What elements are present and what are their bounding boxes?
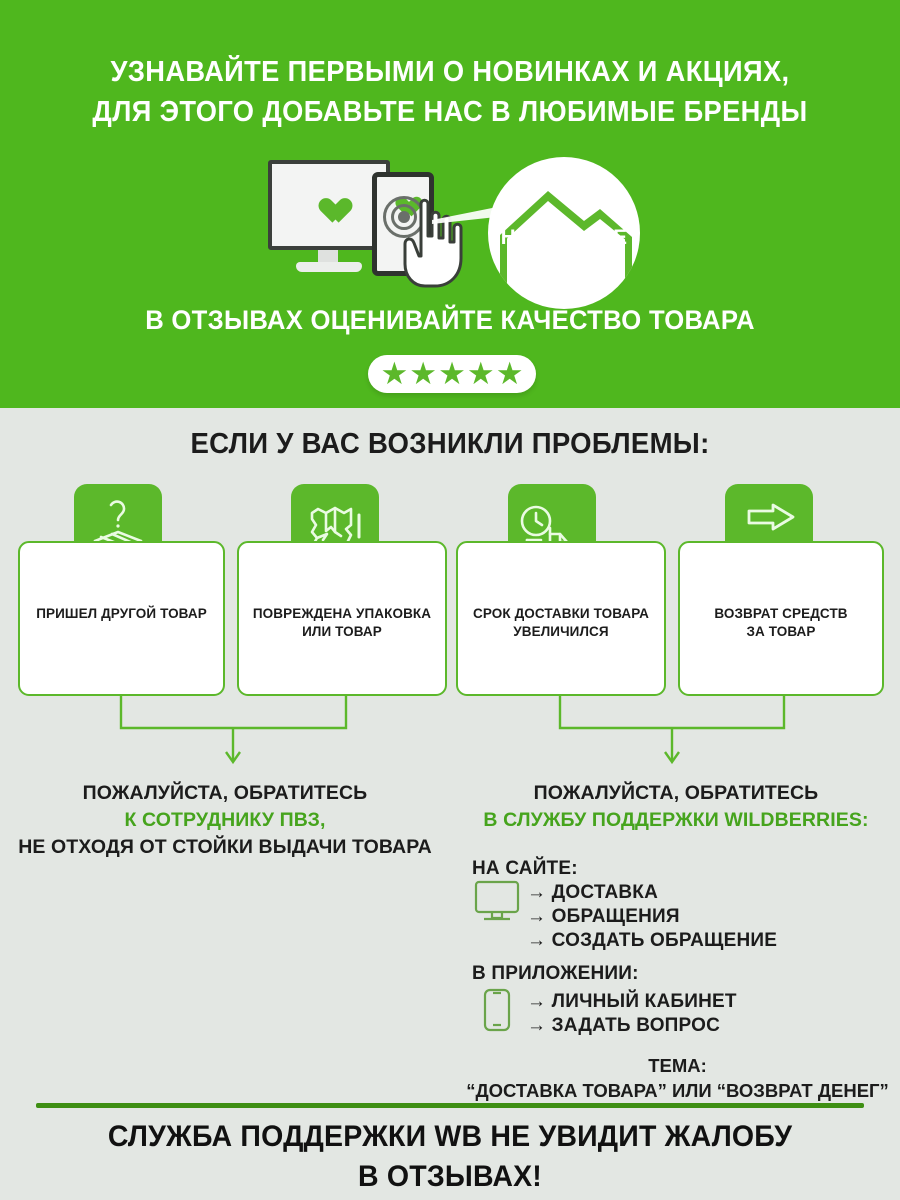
problem-card-3-label: СРОК ДОСТАВКИ ТОВАРАУВЕЛИЧИЛСЯ — [464, 605, 658, 641]
website-step-1: → ДОСТАВКА — [527, 882, 658, 904]
app-step-1: → ЛИЧНЫЙ КАБИНЕТ — [527, 991, 737, 1013]
topic-block: ТЕМА: “ДОСТАВКА ТОВАРА” ИЛИ “ВОЗВРАТ ДЕН… — [455, 1053, 900, 1103]
advice-left-line-2: К СОТРУДНИКУ ПВЗ, — [0, 807, 450, 834]
problem-card-2-label: ПОВРЕЖДЕНА УПАКОВКАИЛИ ТОВАР — [245, 605, 439, 641]
advice-left-line-1: ПОЖАЛУЙСТА, ОБРАТИТЕСЬ — [0, 780, 450, 807]
hero-title: УЗНАВАЙТЕ ПЕРВЫМИ О НОВИНКАХ И АКЦИЯХ, Д… — [27, 52, 873, 132]
star-icon: ★ — [467, 358, 495, 389]
advice-left: ПОЖАЛУЙСТА, ОБРАТИТЕСЬ К СОТРУДНИКУ ПВЗ,… — [0, 780, 450, 861]
flow-connectors — [0, 694, 900, 774]
problem-card-1[interactable]: ПРИШЕЛ ДРУГОЙ ТОВАР — [18, 541, 225, 696]
hero-title-line-2: ДЛЯ ЭТОГО ДОБАВЬТЕ НАС В ЛЮБИМЫЕ БРЕНДЫ — [27, 92, 873, 132]
monitor-icon — [474, 880, 520, 924]
hero-title-line-1: УЗНАВАЙТЕ ПЕРВЫМИ О НОВИНКАХ И АКЦИЯХ, — [27, 52, 873, 92]
problems-heading: ЕСЛИ У ВАС ВОЗНИКЛИ ПРОБЛЕМЫ: — [23, 428, 878, 461]
footer-line-1: СЛУЖБА ПОДДЕРЖКИ WB НЕ УВИДИТ ЖАЛОБУ — [23, 1117, 878, 1157]
infographic-page: УЗНАВАЙТЕ ПЕРВЫМИ О НОВИНКАХ И АКЦИЯХ, Д… — [0, 0, 900, 1200]
footer-warning: СЛУЖБА ПОДДЕРЖКИ WB НЕ УВИДИТ ЖАЛОБУ В О… — [23, 1117, 878, 1197]
star-icon: ★ — [438, 358, 466, 389]
hero-subtitle: В ОТЗЫВАХ ОЦЕНИВАЙТЕ КАЧЕСТВО ТОВАРА — [23, 305, 878, 336]
star-icon: ★ — [496, 358, 524, 389]
app-channel-heading: В ПРИЛОЖЕНИИ: — [472, 963, 639, 985]
monitor-stand-base — [296, 262, 362, 272]
problem-card-3[interactable]: СРОК ДОСТАВКИ ТОВАРАУВЕЛИЧИЛСЯ — [456, 541, 666, 696]
star-rating: ★★★★★ — [368, 355, 536, 393]
advice-left-line-3: НЕ ОТХОДЯ ОТ СТОЙКИ ВЫДАЧИ ТОВАРА — [0, 834, 450, 861]
problem-card-4[interactable]: ВОЗВРАТ СРЕДСТВЗА ТОВАР — [678, 541, 884, 696]
star-icon: ★ — [381, 358, 409, 389]
problem-card-1-label: ПРИШЕЛ ДРУГОЙ ТОВАР — [26, 605, 217, 623]
advice-right-line-2: В СЛУЖБУ ПОДДЕРЖКИ WILDBERRIES: — [452, 807, 900, 834]
footer-line-2: В ОТЗЫВАХ! — [23, 1157, 878, 1197]
advice-right: ПОЖАЛУЙСТА, ОБРАТИТЕСЬ В СЛУЖБУ ПОДДЕРЖК… — [452, 780, 900, 834]
app-step-2: → ЗАДАТЬ ВОПРОС — [527, 1015, 720, 1037]
topic-heading: ТЕМА: — [455, 1053, 900, 1078]
brand-logo-text: HOMESHINE — [490, 226, 639, 250]
topic-value: “ДОСТАВКА ТОВАРА” ИЛИ “ВОЗВРАТ ДЕНЕГ” — [455, 1078, 900, 1103]
problem-card-4-label: ВОЗВРАТ СРЕДСТВЗА ТОВАР — [686, 605, 876, 641]
heart-icon-monitor — [313, 188, 343, 215]
phone-icon — [483, 988, 511, 1032]
problem-card-2[interactable]: ПОВРЕЖДЕНА УПАКОВКАИЛИ ТОВАР — [237, 541, 447, 696]
advice-right-line-1: ПОЖАЛУЙСТА, ОБРАТИТЕСЬ — [452, 780, 900, 807]
hero-banner: УЗНАВАЙТЕ ПЕРВЫМИ О НОВИНКАХ И АКЦИЯХ, Д… — [0, 0, 900, 408]
website-step-3: → СОЗДАТЬ ОБРАЩЕНИЕ — [527, 930, 777, 952]
website-step-2: → ОБРАЩЕНИЯ — [527, 906, 680, 928]
website-channel-heading: НА САЙТЕ: — [472, 858, 578, 880]
star-icon: ★ — [409, 358, 437, 389]
footer-divider — [36, 1103, 864, 1108]
